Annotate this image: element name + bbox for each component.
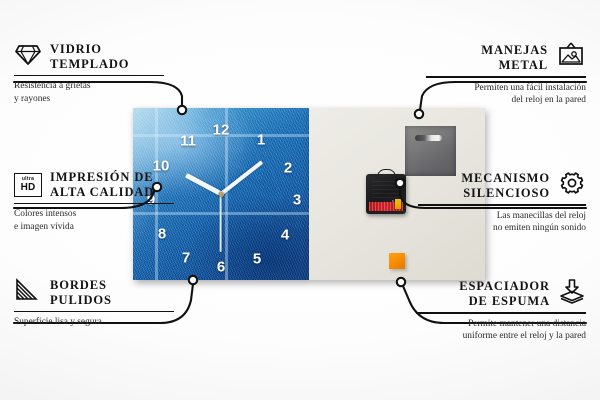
clock-numeral: 1 bbox=[257, 133, 265, 148]
callout-mecanismo-silencioso: MECANISMOSILENCIOSO Las manecillas del r… bbox=[418, 170, 586, 235]
callout-espaciador-de-espuma: ESPACIADORDE ESPUMA Permite mantener una… bbox=[416, 278, 586, 343]
callout-impresion-alta-calidad: ultraHD IMPRESIÓN DEALTA CALIDAD Colores… bbox=[14, 170, 174, 233]
callout-description: Superficie lisa y segura bbox=[14, 316, 174, 329]
callout-description: Permiten una fácil instalación del reloj… bbox=[426, 82, 586, 107]
clock-numeral: 5 bbox=[253, 252, 261, 267]
foam-spacer bbox=[389, 253, 405, 269]
callout-title: VIDRIOTEMPLADO bbox=[50, 42, 129, 72]
foam-layers-arrow-icon bbox=[558, 278, 586, 309]
mechanism-battery-badge bbox=[395, 199, 401, 209]
callout-title: BORDESPULIDOS bbox=[50, 278, 112, 308]
callout-title: MANEJASMETAL bbox=[481, 43, 548, 73]
polished-edge-icon bbox=[14, 278, 42, 307]
callout-header: BORDESPULIDOS bbox=[14, 278, 174, 308]
callout-description: Colores intensos e imagen vívida bbox=[14, 208, 174, 233]
ultra-hd-icon: ultraHD bbox=[14, 173, 42, 197]
clock-numeral: 3 bbox=[293, 193, 301, 208]
callout-description: Las manecillas del reloj no emiten ningú… bbox=[418, 210, 586, 235]
clock-numeral: 4 bbox=[281, 228, 289, 243]
callout-description: Resistencia a grietas y rayones bbox=[14, 80, 164, 105]
clock-mechanism bbox=[366, 174, 406, 214]
mechanism-label bbox=[369, 202, 403, 211]
gear-icon bbox=[558, 170, 586, 201]
clock-numeral: 7 bbox=[182, 251, 190, 266]
callout-divider bbox=[14, 203, 174, 205]
hanger-slot bbox=[415, 135, 442, 141]
callout-divider bbox=[416, 312, 586, 314]
callout-description: Permite mantener una distancia uniforme … bbox=[416, 318, 586, 343]
clock-numeral: 2 bbox=[284, 161, 292, 176]
callout-title: IMPRESIÓN DEALTA CALIDAD bbox=[50, 170, 154, 200]
picture-frame-hanger-icon bbox=[556, 42, 586, 73]
callout-manejas-metal: MANEJASMETAL Permiten una fácil instalac… bbox=[426, 42, 586, 107]
callout-bordes-pulidos: BORDESPULIDOS Superficie lisa y segura bbox=[14, 278, 174, 329]
clock-second-hand bbox=[220, 194, 222, 252]
mechanism-body-detail bbox=[372, 181, 398, 198]
callout-vidrio-templado: VIDRIOTEMPLADO Resistencia a grietas y r… bbox=[14, 42, 164, 105]
callout-title: ESPACIADORDE ESPUMA bbox=[459, 279, 550, 309]
clock-numeral: 6 bbox=[217, 260, 225, 275]
callout-header: VIDRIOTEMPLADO bbox=[14, 42, 164, 72]
diamond-icon bbox=[14, 42, 42, 71]
callout-divider bbox=[14, 311, 174, 313]
callout-header: ultraHD IMPRESIÓN DEALTA CALIDAD bbox=[14, 170, 174, 200]
callout-header: ESPACIADORDE ESPUMA bbox=[416, 278, 586, 309]
callout-divider bbox=[426, 76, 586, 78]
clock-numeral: 12 bbox=[213, 123, 230, 138]
metal-hanger-plate bbox=[405, 126, 456, 176]
callout-header: MECANISMOSILENCIOSO bbox=[418, 170, 586, 201]
clock-numeral: 11 bbox=[180, 134, 196, 149]
clock-center-cap bbox=[219, 192, 224, 197]
callout-divider bbox=[418, 204, 586, 206]
mechanism-hanging-loop bbox=[377, 169, 396, 178]
callout-divider bbox=[14, 75, 164, 77]
callout-title: MECANISMOSILENCIOSO bbox=[461, 171, 550, 201]
callout-header: MANEJASMETAL bbox=[426, 42, 586, 73]
infographic-canvas: 12 1 2 3 4 5 6 7 8 9 10 11 bbox=[0, 0, 600, 400]
